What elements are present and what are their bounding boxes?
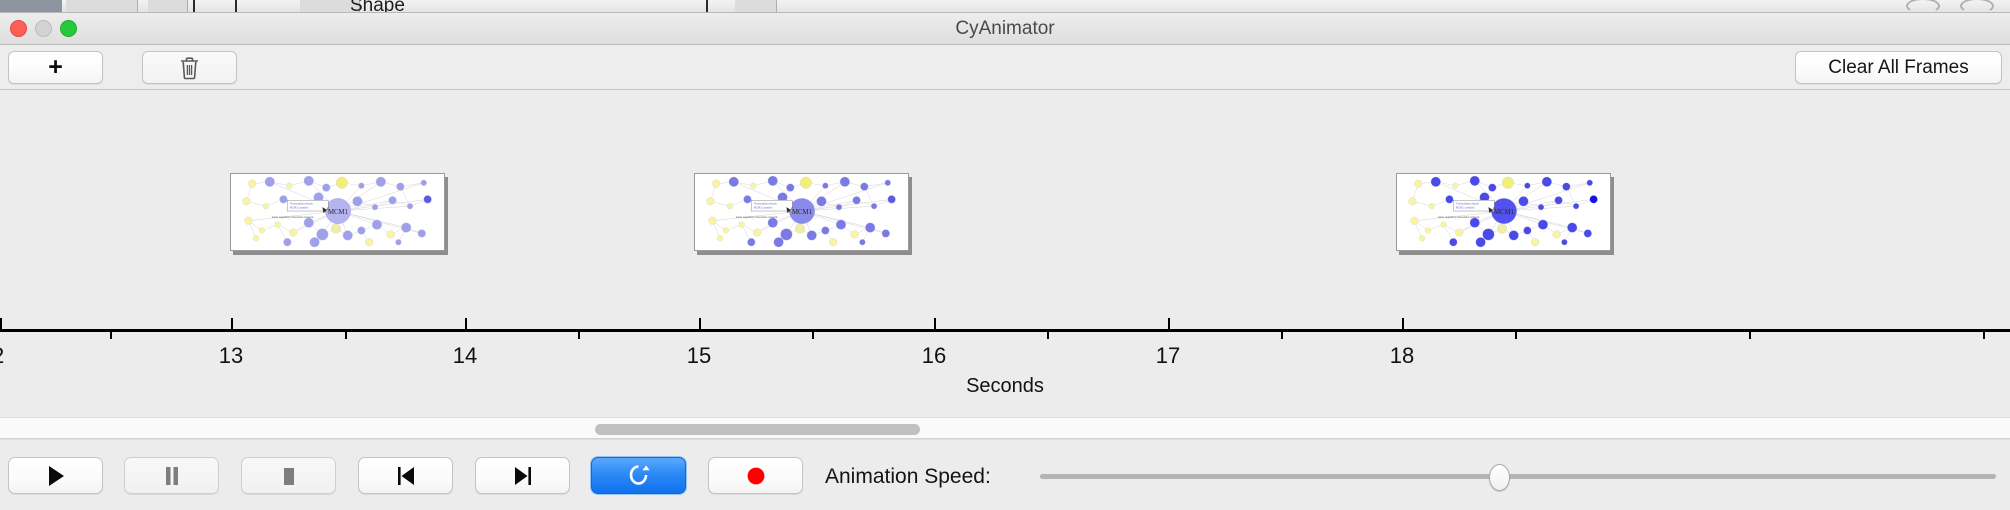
svg-text:Gene regulatory interaction ne: Gene regulatory interaction network bbox=[736, 215, 778, 219]
timeline-tick bbox=[699, 318, 701, 330]
timeline-minor-tick bbox=[1983, 329, 1985, 339]
timeline-tick-label: 15 bbox=[669, 343, 729, 369]
timeline-minor-tick bbox=[812, 329, 814, 339]
svg-text:Gene regulatory interaction ne: Gene regulatory interaction network bbox=[272, 215, 314, 219]
playback-control-bar: Animation Speed: bbox=[0, 439, 2010, 510]
svg-text:MCM1 complex: MCM1 complex bbox=[290, 206, 310, 210]
loop-icon bbox=[628, 464, 650, 488]
svg-text:MCM1: MCM1 bbox=[1494, 209, 1514, 216]
next-frame-button[interactable] bbox=[475, 457, 570, 494]
timeline-minor-tick bbox=[1281, 329, 1283, 339]
frame-toolbar: + Clear All Frames bbox=[0, 45, 2010, 90]
stop-icon bbox=[280, 465, 298, 487]
svg-text:Gene regulatory interaction ne: Gene regulatory interaction network bbox=[1438, 215, 1480, 219]
background-window-strip: Shape bbox=[0, 0, 2010, 13]
pause-icon bbox=[163, 465, 181, 487]
timeline-tick-label: 18 bbox=[1372, 343, 1432, 369]
timeline-minor-tick bbox=[1515, 329, 1517, 339]
timeline-tick bbox=[465, 318, 467, 330]
scrollbar-thumb[interactable] bbox=[595, 424, 920, 435]
timeline-scrollbar[interactable] bbox=[0, 417, 2010, 439]
background-window-label: Shape bbox=[350, 0, 405, 13]
svg-text:Transcription factor: Transcription factor bbox=[290, 202, 313, 206]
timeline-tick bbox=[0, 318, 2, 330]
keyframe-thumbnail[interactable]: MCM1Transcription factorMCM1 complexGene… bbox=[230, 173, 445, 251]
previous-frame-button[interactable] bbox=[358, 457, 453, 494]
clear-all-frames-label: Clear All Frames bbox=[1828, 57, 1968, 79]
record-button[interactable] bbox=[708, 457, 803, 494]
timeline-tick-label: 16 bbox=[904, 343, 964, 369]
cyanimator-window: Shape CyAnimator + Clear All Frames bbox=[0, 0, 2010, 510]
axis-title: Seconds bbox=[0, 375, 2010, 398]
record-icon bbox=[745, 465, 767, 487]
animation-speed-slider-thumb[interactable] bbox=[1489, 464, 1510, 491]
svg-text:Transcription factor: Transcription factor bbox=[754, 202, 777, 206]
skip-back-icon bbox=[395, 465, 417, 487]
timeline-minor-tick bbox=[1047, 329, 1049, 339]
timeline-minor-tick bbox=[1749, 329, 1751, 339]
title-bar: CyAnimator bbox=[0, 13, 2010, 45]
timeline-tick-label: 17 bbox=[1138, 343, 1198, 369]
plus-icon: + bbox=[48, 55, 63, 80]
delete-frame-button[interactable] bbox=[142, 51, 237, 84]
svg-text:Transcription factor: Transcription factor bbox=[1456, 202, 1479, 206]
window-title: CyAnimator bbox=[0, 13, 2010, 45]
timeline-tick-label: 13 bbox=[201, 343, 261, 369]
timeline-tick bbox=[934, 318, 936, 330]
timeline-tick-label: 2 bbox=[0, 343, 52, 369]
animation-speed-label: Animation Speed: bbox=[825, 465, 991, 489]
loop-button[interactable] bbox=[591, 457, 686, 494]
pause-button bbox=[124, 457, 219, 494]
play-button[interactable] bbox=[8, 457, 103, 494]
timeline-minor-tick bbox=[578, 329, 580, 339]
timeline-tick-label: 14 bbox=[435, 343, 495, 369]
keyframe-thumbnail[interactable]: MCM1Transcription factorMCM1 complexGene… bbox=[1396, 173, 1611, 251]
trash-icon bbox=[179, 56, 200, 80]
timeline-panel[interactable]: Seconds 2131415161718MCM1Transcription f… bbox=[0, 90, 2010, 417]
timeline-minor-tick bbox=[110, 329, 112, 339]
svg-text:MCM1 complex: MCM1 complex bbox=[754, 206, 774, 210]
clear-all-frames-button[interactable]: Clear All Frames bbox=[1795, 51, 2002, 84]
timeline-tick bbox=[1168, 318, 1170, 330]
timeline-tick bbox=[1402, 318, 1404, 330]
svg-text:MCM1 complex: MCM1 complex bbox=[1456, 206, 1476, 210]
svg-text:MCM1: MCM1 bbox=[328, 209, 348, 216]
play-icon bbox=[46, 465, 66, 487]
timeline-tick bbox=[231, 318, 233, 330]
add-frame-button[interactable]: + bbox=[8, 51, 103, 84]
animation-speed-slider[interactable] bbox=[1040, 474, 1996, 479]
keyframe-thumbnail[interactable]: MCM1Transcription factorMCM1 complexGene… bbox=[694, 173, 909, 251]
timeline-minor-tick bbox=[345, 329, 347, 339]
stop-button bbox=[241, 457, 336, 494]
skip-forward-icon bbox=[512, 465, 534, 487]
svg-text:MCM1: MCM1 bbox=[792, 209, 812, 216]
timeline-axis bbox=[0, 329, 2010, 332]
timeline-canvas[interactable]: Seconds 2131415161718MCM1Transcription f… bbox=[0, 90, 2010, 417]
